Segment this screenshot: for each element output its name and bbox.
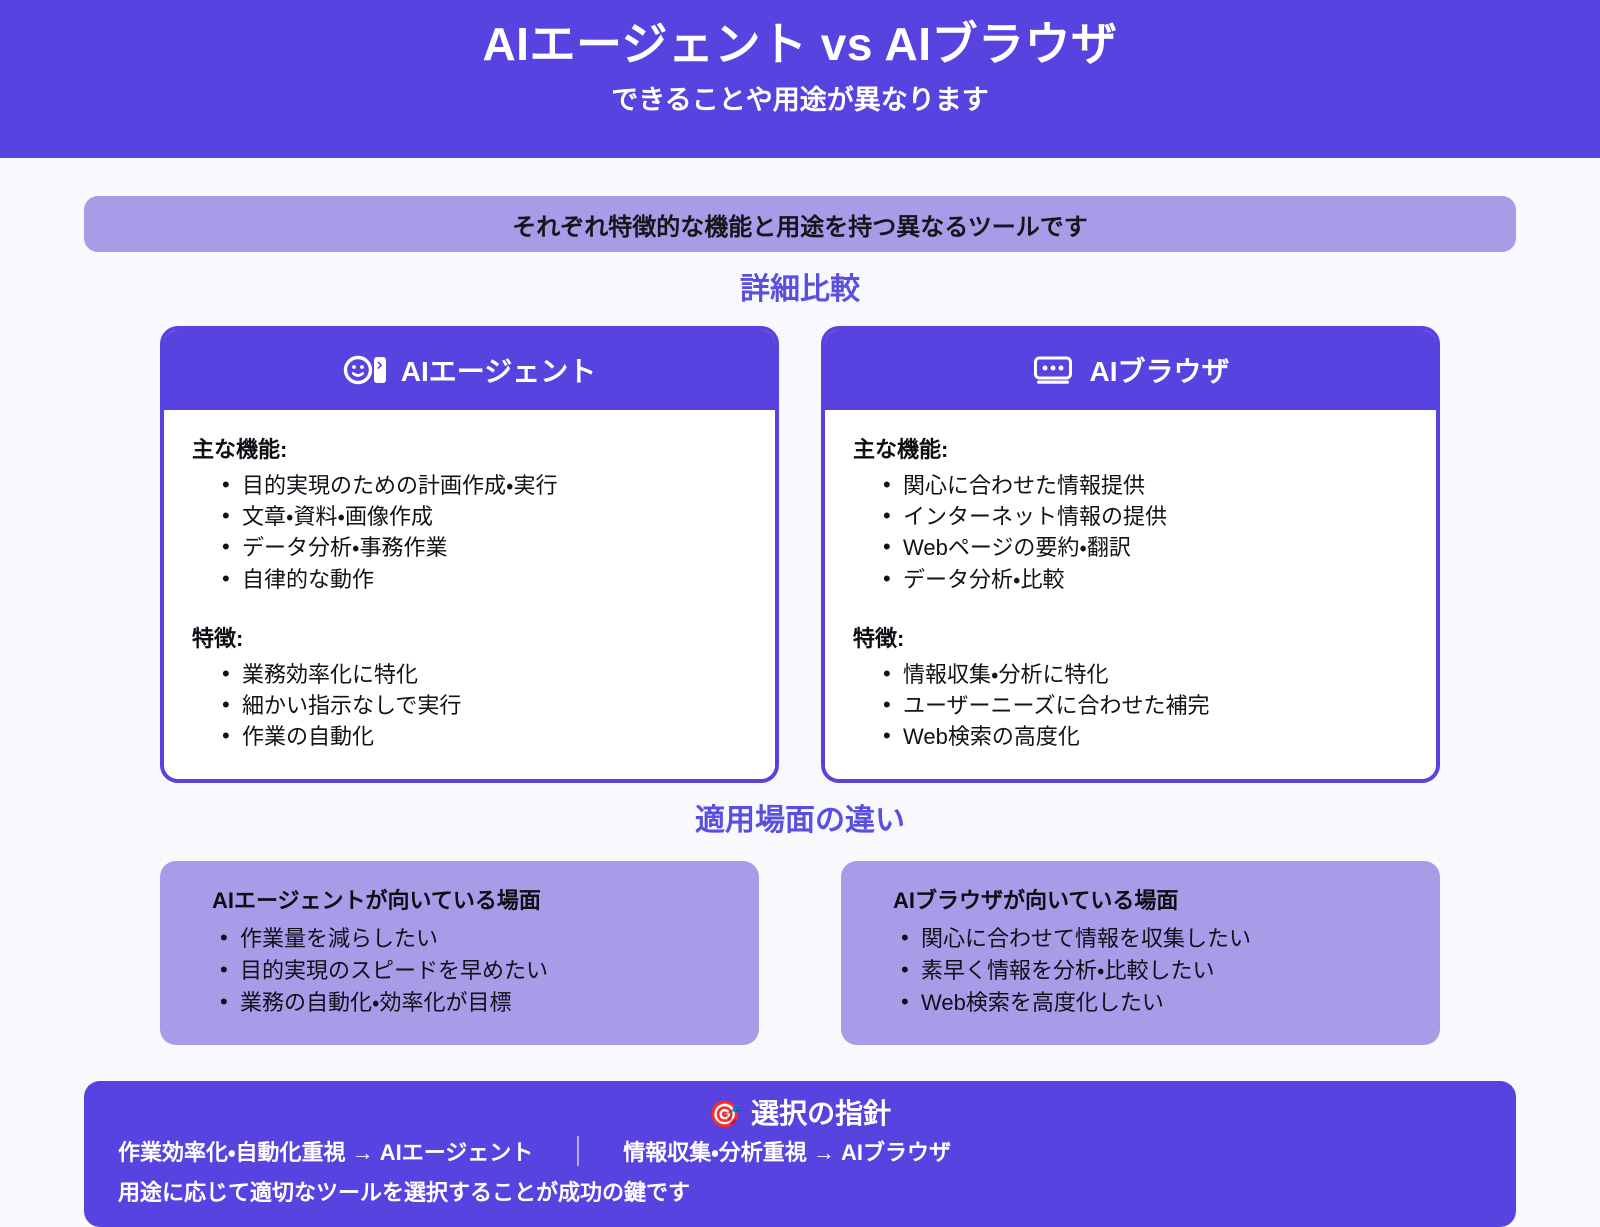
features-list: 目的実現のための計画作成・実行 文章・資料・画像作成 データ分析・事務作業 自律… <box>192 470 747 595</box>
traits-list: 情報収集・分析に特化 ユーザーニーズに合わせた補完 Web検索の高度化 <box>853 659 1408 753</box>
card-ai-agent: AIエージェント 主な機能: 目的実現のための計画作成・実行 文章・資料・画像作… <box>160 326 779 783</box>
card-ai-browser-header: AIブラウザ <box>824 329 1437 411</box>
list-item: 関心に合わせた情報提供 <box>883 470 1408 501</box>
guidance-rule-left: 作業効率化・自動化重視 → AIエージェント <box>118 1135 533 1167</box>
card-ai-agent-title: AIエージェント <box>401 350 596 390</box>
list-item: 細かい指示なしで実行 <box>222 690 747 721</box>
vertical-divider <box>577 1136 579 1166</box>
page-header: AIエージェント vs AIブラウザ できることや用途が異なります <box>0 0 1600 158</box>
usecase-heading: 適用場面の違い <box>0 803 1600 839</box>
list-item: 自律的な動作 <box>222 564 747 595</box>
robot-icon <box>343 353 387 387</box>
summary-banner-text: それぞれ特徴的な機能と用途を持つ異なるツールです <box>512 207 1088 242</box>
traits-list: 業務効率化に特化 細かい指示なしで実行 作業の自動化 <box>192 659 747 753</box>
guidance-note: 用途に応じて適切なツールを選択することが成功の鍵です <box>118 1175 1482 1207</box>
guidance-title: 選択の指針 <box>751 1097 891 1131</box>
guidance-footer: 🎯 選択の指針 作業効率化・自動化重視 → AIエージェント 情報収集・分析重視… <box>84 1081 1516 1227</box>
panel-list: 作業量を減らしたい 目的実現のスピードを早めたい 業務の自動化・効率化が目標 <box>186 923 733 1019</box>
list-item: 文章・資料・画像作成 <box>222 501 747 532</box>
panel-list: 関心に合わせて情報を収集したい 素早く情報を分析・比較したい Web検索を高度化… <box>867 923 1414 1019</box>
card-ai-agent-header: AIエージェント <box>163 329 776 411</box>
features-label: 主な機能: <box>192 432 747 464</box>
page-subtitle: できることや用途が異なります <box>0 84 1600 116</box>
summary-banner: それぞれ特徴的な機能と用途を持つ異なるツールです <box>84 196 1516 252</box>
list-item: Web検索を高度化したい <box>901 987 1414 1019</box>
traits-label: 特徴: <box>192 621 747 653</box>
browser-window-icon <box>1031 353 1075 387</box>
guidance-title-row: 🎯 選択の指針 <box>118 1097 1482 1131</box>
traits-label: 特徴: <box>853 621 1408 653</box>
list-item: 素早く情報を分析・比較したい <box>901 955 1414 987</box>
card-ai-browser-body: 主な機能: 関心に合わせた情報提供 インターネット情報の提供 Webページの要約… <box>825 410 1436 779</box>
features-label: 主な機能: <box>853 432 1408 464</box>
list-item: 目的実現のための計画作成・実行 <box>222 470 747 501</box>
list-item: 作業量を減らしたい <box>220 923 733 955</box>
list-item: 情報収集・分析に特化 <box>883 659 1408 690</box>
list-item: 目的実現のスピードを早めたい <box>220 955 733 987</box>
card-ai-browser: AIブラウザ 主な機能: 関心に合わせた情報提供 インターネット情報の提供 We… <box>821 326 1440 783</box>
target-emoji-icon: 🎯 <box>709 1101 741 1127</box>
list-item: Web検索の高度化 <box>883 721 1408 752</box>
panel-title: AIエージェントが向いている場面 <box>186 883 733 915</box>
list-item: 業務効率化に特化 <box>222 659 747 690</box>
list-item: ユーザーニーズに合わせた補完 <box>883 690 1408 721</box>
panel-ai-agent-usecases: AIエージェントが向いている場面 作業量を減らしたい 目的実現のスピードを早めた… <box>160 861 759 1045</box>
guidance-rules: 作業効率化・自動化重視 → AIエージェント 情報収集・分析重視 → AIブラウ… <box>118 1135 1482 1167</box>
list-item: 業務の自動化・効率化が目標 <box>220 987 733 1019</box>
page-title: AIエージェント vs AIブラウザ <box>0 16 1600 74</box>
card-ai-browser-title: AIブラウザ <box>1089 350 1229 390</box>
list-item: データ分析・比較 <box>883 564 1408 595</box>
list-item: 関心に合わせて情報を収集したい <box>901 923 1414 955</box>
panel-ai-browser-usecases: AIブラウザが向いている場面 関心に合わせて情報を収集したい 素早く情報を分析・… <box>841 861 1440 1045</box>
list-item: インターネット情報の提供 <box>883 501 1408 532</box>
list-item: 作業の自動化 <box>222 721 747 752</box>
features-list: 関心に合わせた情報提供 インターネット情報の提供 Webページの要約・翻訳 デー… <box>853 470 1408 595</box>
comparison-cards: AIエージェント 主な機能: 目的実現のための計画作成・実行 文章・資料・画像作… <box>160 326 1440 783</box>
list-item: データ分析・事務作業 <box>222 532 747 563</box>
panel-title: AIブラウザが向いている場面 <box>867 883 1414 915</box>
detail-comparison-heading: 詳細比較 <box>0 272 1600 308</box>
list-item: Webページの要約・翻訳 <box>883 532 1408 563</box>
card-ai-agent-body: 主な機能: 目的実現のための計画作成・実行 文章・資料・画像作成 データ分析・事… <box>164 410 775 779</box>
usecase-panels: AIエージェントが向いている場面 作業量を減らしたい 目的実現のスピードを早めた… <box>160 861 1440 1045</box>
guidance-rule-right: 情報収集・分析重視 → AIブラウザ <box>623 1135 951 1167</box>
